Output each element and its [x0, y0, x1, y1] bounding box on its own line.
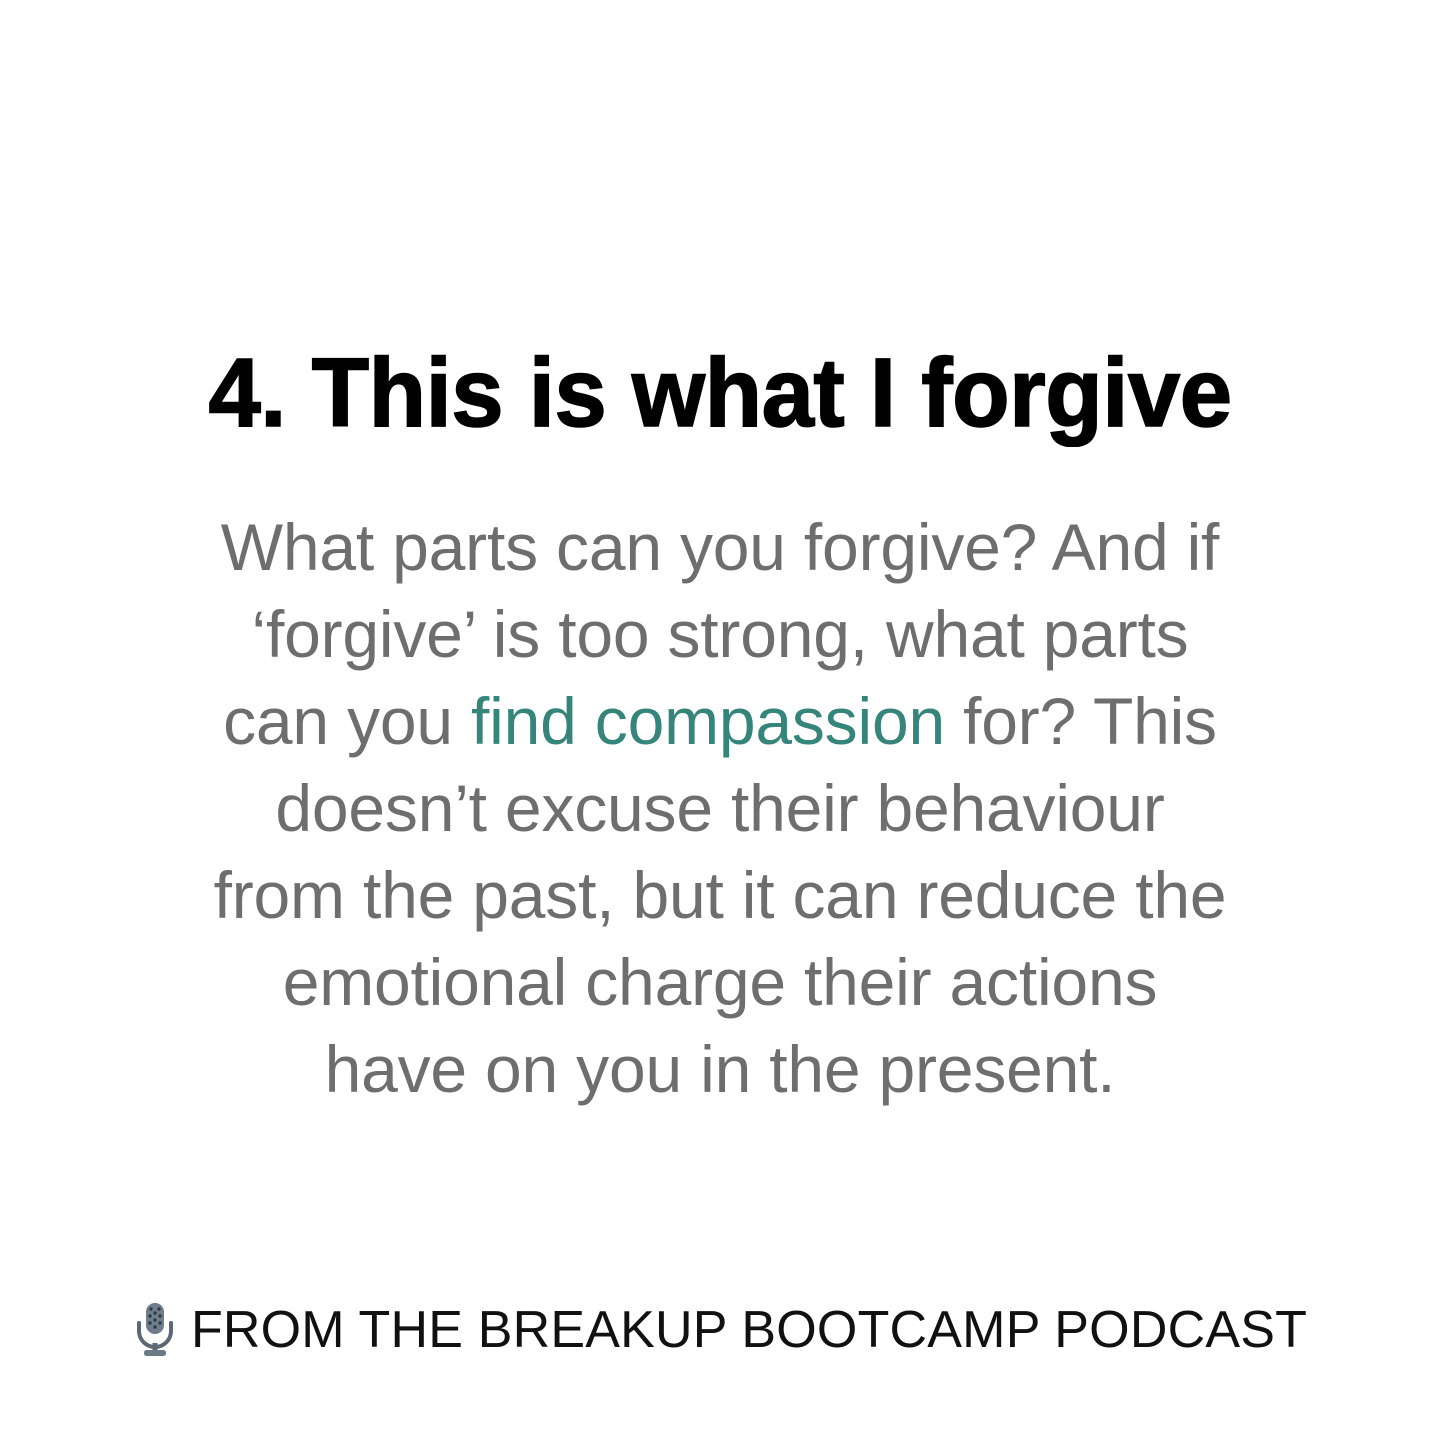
accent-phrase: find compassion	[471, 684, 945, 758]
podcast-attribution: FROM THE BREAKUP BOOTCAMP PODCAST	[0, 1300, 1440, 1360]
podcast-attribution-label: FROM THE BREAKUP BOOTCAMP PODCAST	[191, 1300, 1307, 1360]
body-paragraph: What parts can you forgive? And if ‘forg…	[205, 504, 1235, 1113]
quote-card: 4. This is what I forgive What parts can…	[0, 0, 1440, 1440]
page-title: 4. This is what I forgive	[22, 341, 1419, 446]
studio-microphone-icon	[133, 1301, 177, 1359]
